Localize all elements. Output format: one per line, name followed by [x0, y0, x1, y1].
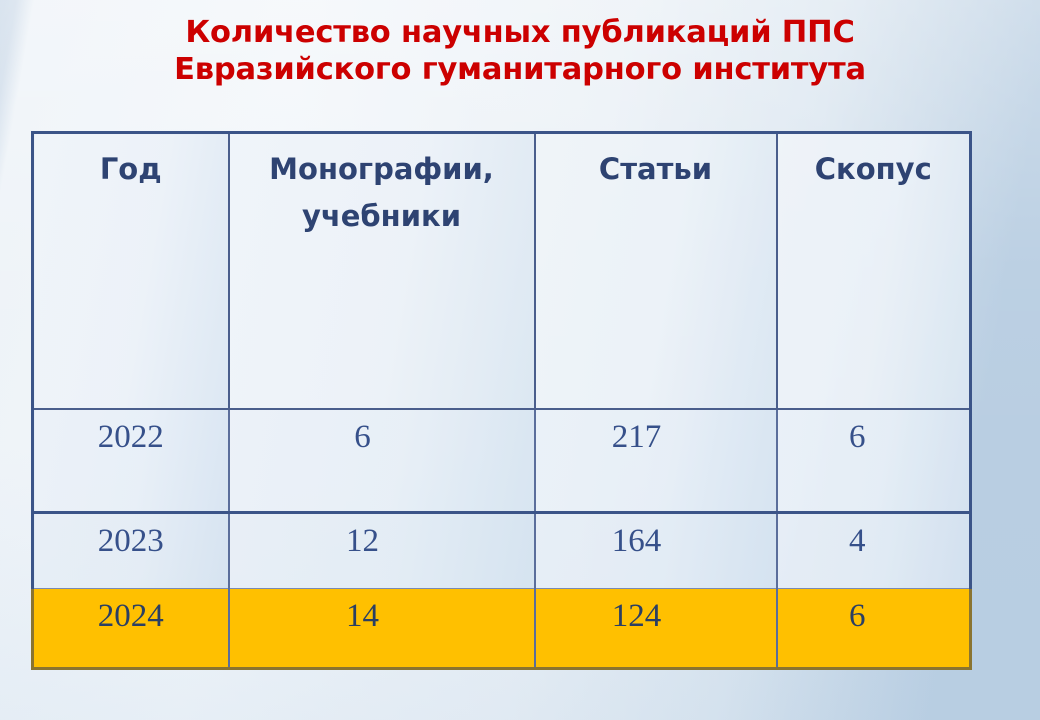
page-title-line-1: Количество научных публикаций ППС [60, 14, 980, 51]
table-header-row: Год Монографии, учебники Статьи Скопус [33, 133, 971, 410]
cell-scopus: 6 [777, 589, 971, 669]
cell-articles: 164 [535, 513, 777, 589]
page-title-line-2: Евразийского гуманитарного института [60, 51, 980, 88]
cell-monographs: 6 [229, 409, 535, 513]
cell-year: 2024 [33, 589, 229, 669]
cell-scopus: 6 [777, 409, 971, 513]
column-header-monographs-line-2: учебники [302, 199, 461, 233]
column-header-monographs-line-1: Монографии, [269, 152, 494, 186]
table-row: 2022 6 217 6 [33, 409, 971, 513]
column-header-articles: Статьи [535, 133, 777, 410]
publications-table-container: Год Монографии, учебники Статьи Скопус 2… [31, 131, 969, 670]
page-title: Количество научных публикаций ППС Еврази… [60, 14, 980, 88]
cell-monographs: 12 [229, 513, 535, 589]
cell-year: 2022 [33, 409, 229, 513]
column-header-monographs: Монографии, учебники [229, 133, 535, 410]
table-row: 2023 12 164 4 [33, 513, 971, 589]
publications-table: Год Монографии, учебники Статьи Скопус 2… [31, 131, 972, 670]
table-row-highlighted: 2024 14 124 6 [33, 589, 971, 669]
cell-monographs: 14 [229, 589, 535, 669]
cell-year: 2023 [33, 513, 229, 589]
column-header-year: Год [33, 133, 229, 410]
cell-scopus: 4 [777, 513, 971, 589]
cell-articles: 124 [535, 589, 777, 669]
column-header-scopus: Скопус [777, 133, 971, 410]
slide-canvas: Количество научных публикаций ППС Еврази… [0, 0, 1040, 720]
cell-articles: 217 [535, 409, 777, 513]
